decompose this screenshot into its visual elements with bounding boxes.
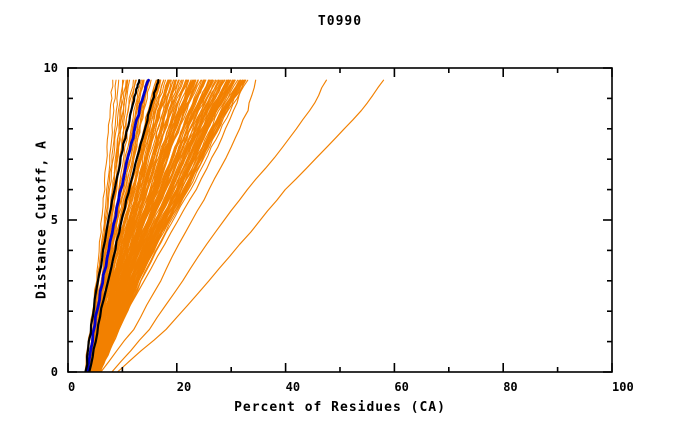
y-tick-label: 0 <box>51 365 58 379</box>
x-axis-label: Percent of Residues (CA) <box>0 400 680 415</box>
x-tick-label: 0 <box>68 380 75 394</box>
x-tick-label: 100 <box>612 380 634 394</box>
y-axis-label: Distance Cutoff, A <box>35 100 50 340</box>
y-tick-label: 10 <box>44 61 58 75</box>
x-tick-label: 60 <box>394 380 408 394</box>
plot-page: T0990 Percent of Residues (CA) Distance … <box>0 0 680 440</box>
data-layer <box>85 80 383 372</box>
distance-cutoff-chart <box>0 0 680 440</box>
x-tick-label: 20 <box>177 380 191 394</box>
y-tick-label: 5 <box>51 213 58 227</box>
x-tick-label: 80 <box>503 380 517 394</box>
x-tick-label: 40 <box>286 380 300 394</box>
